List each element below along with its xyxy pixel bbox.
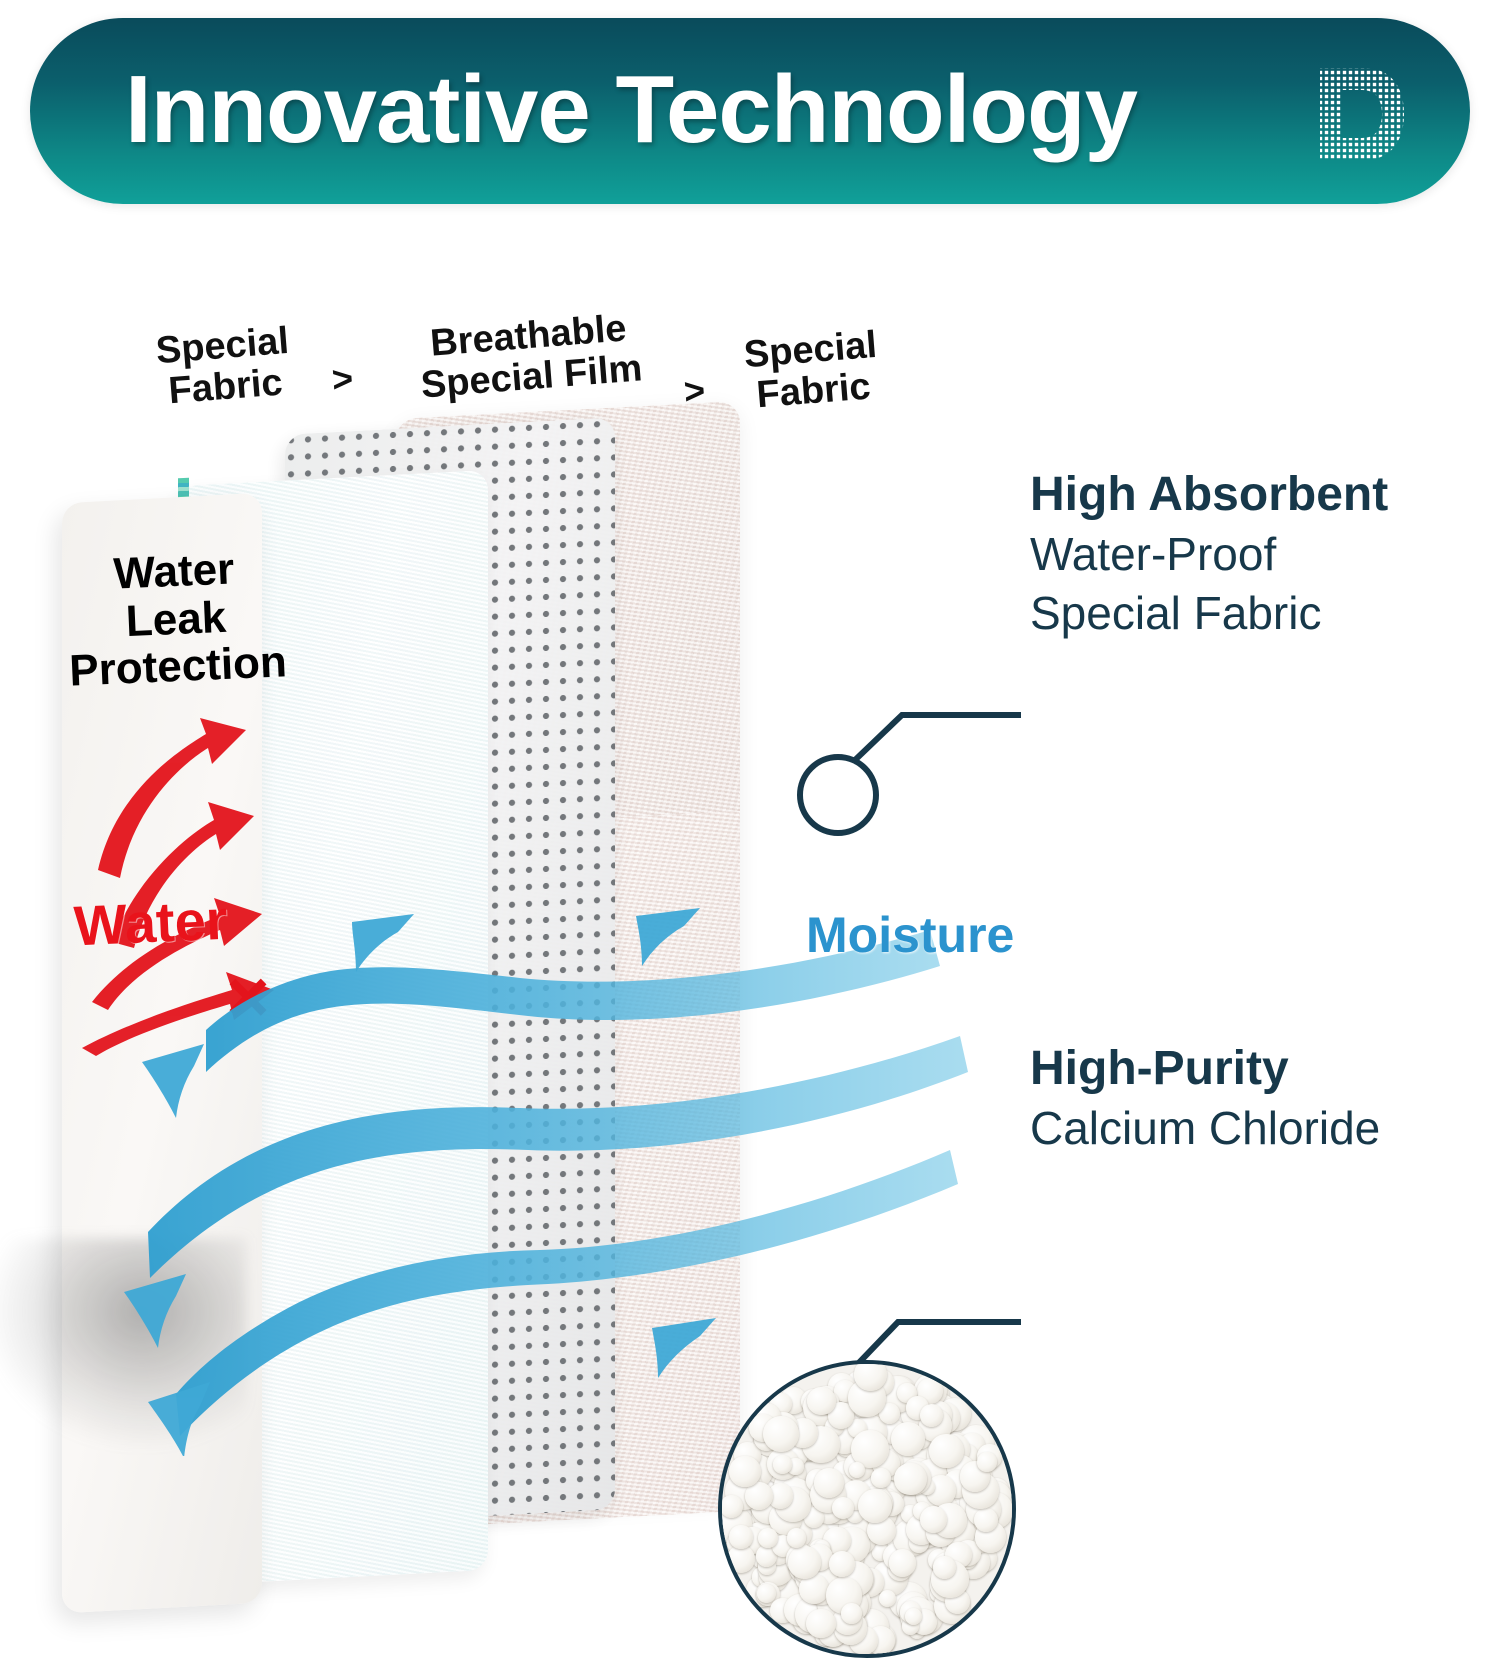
water-leak-protection-label: Water Leak Protection xyxy=(53,543,299,696)
calcium-chloride-bead xyxy=(720,1495,743,1518)
high-purity-heading: High-Purity xyxy=(1030,1040,1480,1099)
layer-separator-2: > xyxy=(683,369,707,412)
high-purity-callout: High-Purity Calcium Chloride xyxy=(1030,1040,1480,1158)
callout-leader-lines xyxy=(852,715,1018,1370)
calcium-chloride-bead xyxy=(758,1528,778,1548)
calcium-chloride-bead xyxy=(773,1455,791,1473)
technology-diagram: × Special Fabric > Breathable Special Fi… xyxy=(0,230,1500,1456)
calcium-chloride-bead xyxy=(871,1468,890,1487)
calcium-chloride-bead xyxy=(806,1609,836,1639)
calcium-chloride-bead xyxy=(894,1463,926,1495)
high-absorbent-marker-circle xyxy=(800,757,876,833)
calcium-chloride-bead xyxy=(974,1508,998,1532)
calcium-chloride-bead xyxy=(729,1525,752,1548)
calcium-chloride-bead xyxy=(814,1468,844,1498)
calcium-chloride-bead xyxy=(788,1546,821,1579)
calcium-chloride-bead xyxy=(829,1551,855,1577)
calcium-chloride-bead xyxy=(929,1434,963,1468)
calcium-chloride-bead xyxy=(854,1360,887,1391)
water-label: Water xyxy=(73,887,229,959)
high-absorbent-line-2: Special Fabric xyxy=(1030,584,1470,644)
layer-label-special-fabric-left: Special Fabric xyxy=(121,318,327,416)
high-purity-line-1: Calcium Chloride xyxy=(1030,1099,1480,1159)
high-absorbent-heading: High Absorbent xyxy=(1030,466,1470,525)
page-title: Innovative Technology xyxy=(125,52,1137,167)
layer-label-special-fabric-right: Special Fabric xyxy=(709,322,915,420)
dotted-d-logo xyxy=(1312,64,1408,164)
high-absorbent-callout: High Absorbent Water-Proof Special Fabri… xyxy=(1030,466,1470,644)
calcium-chloride-beads-inset xyxy=(718,1360,1016,1658)
calcium-chloride-bead xyxy=(807,1387,836,1416)
calcium-chloride-bead xyxy=(858,1489,892,1523)
moisture-flow-arrows xyxy=(148,930,968,1436)
layer-separator-1: > xyxy=(331,357,355,400)
header-banner: Innovative Technology xyxy=(30,18,1470,204)
calcium-chloride-bead xyxy=(763,1416,799,1452)
calcium-chloride-bead xyxy=(905,1608,922,1625)
calcium-chloride-bead xyxy=(889,1549,916,1576)
calcium-chloride-bead xyxy=(977,1452,996,1471)
high-absorbent-line-1: Water-Proof xyxy=(1030,525,1470,585)
moisture-label: Moisture xyxy=(806,906,1014,964)
calcium-chloride-bead xyxy=(841,1603,862,1624)
